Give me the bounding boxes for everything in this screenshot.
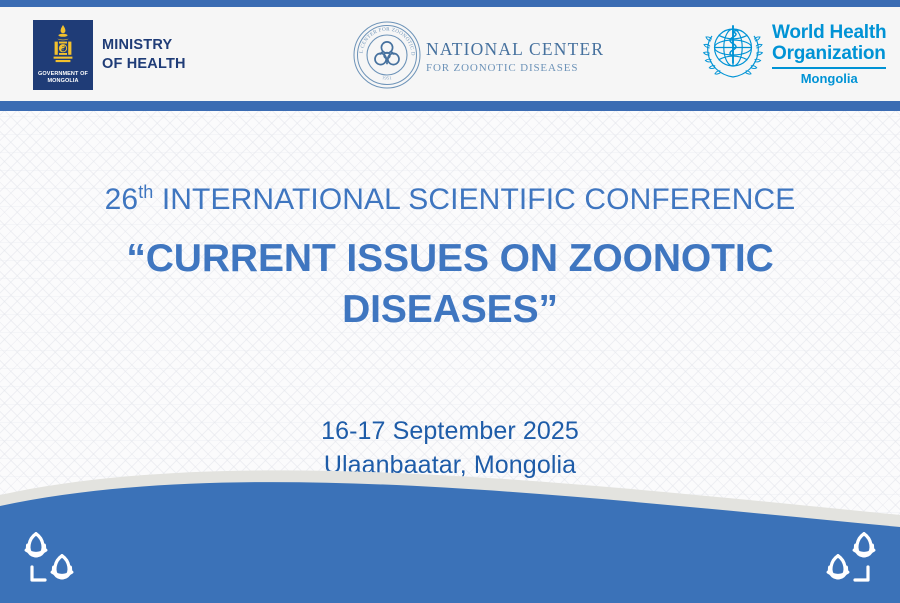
biohazard-seal-icon: NATIONAL CENTER FOR ZOONOTIC DISEASES 19… bbox=[352, 20, 422, 95]
triquetra-knot-ornament-right bbox=[808, 527, 886, 589]
who-globe-asclepius-icon bbox=[702, 20, 764, 87]
event-dates: 16-17 September 2025 bbox=[0, 414, 900, 448]
who-divider-rule bbox=[772, 67, 886, 69]
ministry-name-line2: OF HEALTH bbox=[102, 55, 186, 74]
ministry-name-line1: MINISTRY bbox=[102, 36, 186, 55]
crest-caption-line2: MONGOLIA bbox=[33, 78, 93, 85]
who-line2: Organization bbox=[772, 43, 886, 64]
top-accent-bar bbox=[0, 0, 900, 7]
national-center-name: NATIONAL CENTER FOR ZOONOTIC DISEASES bbox=[426, 41, 604, 74]
mongolia-soyombo-emblem-icon bbox=[33, 24, 93, 66]
svg-text:1951: 1951 bbox=[382, 75, 393, 80]
title-block: 26th INTERNATIONAL SCIENTIFIC CONFERENCE… bbox=[0, 172, 900, 335]
ministry-of-health-name: MINISTRY OF HEALTH bbox=[102, 36, 186, 74]
triquetra-knot-ornament-left bbox=[14, 527, 92, 589]
conference-ordinal-number: 26 bbox=[105, 183, 139, 216]
conference-heading: 26th INTERNATIONAL SCIENTIFIC CONFERENCE bbox=[0, 172, 900, 220]
crest-caption: GOVERNMENT OF MONGOLIA bbox=[33, 71, 93, 85]
national-center-zoonotic-diseases-logo: NATIONAL CENTER FOR ZOONOTIC DISEASES 19… bbox=[352, 20, 604, 95]
ministry-of-health-logo: GOVERNMENT OF MONGOLIA MINISTRY OF HEALT… bbox=[33, 20, 186, 90]
conference-theme-line1: “CURRENT ISSUES ON ZOONOTIC bbox=[0, 233, 900, 284]
mongolia-government-crest: GOVERNMENT OF MONGOLIA bbox=[33, 20, 93, 90]
conference-title-slide: GOVERNMENT OF MONGOLIA MINISTRY OF HEALT… bbox=[0, 0, 900, 603]
crest-caption-line1: GOVERNMENT OF bbox=[33, 71, 93, 78]
conference-heading-text: INTERNATIONAL SCIENTIFIC CONFERENCE bbox=[153, 183, 795, 216]
conference-theme-line2: DISEASES” bbox=[0, 284, 900, 335]
conference-theme: “CURRENT ISSUES ON ZOONOTIC DISEASES” bbox=[0, 233, 900, 335]
who-name: World Health Organization Mongolia bbox=[772, 22, 886, 85]
conference-ordinal-suffix: th bbox=[138, 182, 153, 202]
wave-divider bbox=[0, 453, 900, 603]
national-center-line2: FOR ZOONOTIC DISEASES bbox=[426, 63, 604, 74]
national-center-line1: NATIONAL CENTER bbox=[426, 41, 604, 59]
header-divider-bar bbox=[0, 101, 900, 111]
who-mongolia-logo: World Health Organization Mongolia bbox=[702, 20, 886, 87]
who-line1: World Health bbox=[772, 22, 886, 43]
who-country-label: Mongolia bbox=[772, 72, 886, 85]
